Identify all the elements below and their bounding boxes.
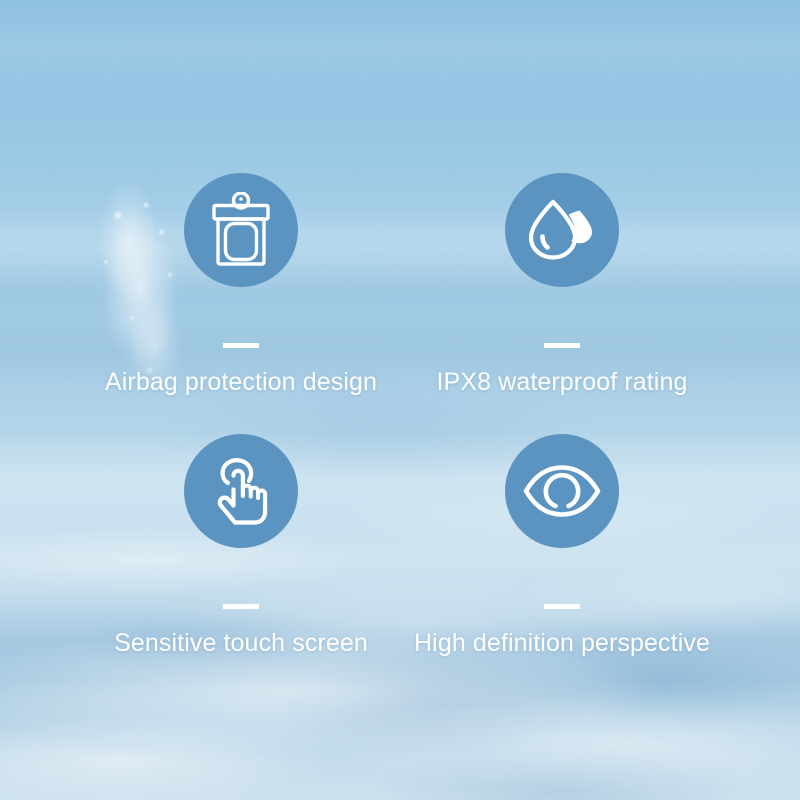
- touch-hand-icon: [208, 453, 274, 529]
- eye-icon: [522, 464, 602, 518]
- feature-icon-circle: [184, 434, 298, 548]
- feature-label: IPX8 waterproof rating: [382, 368, 742, 397]
- feature-label: Airbag protection design: [61, 368, 421, 397]
- feature-label: High definition perspective: [382, 629, 742, 658]
- feature-banner: Airbag protection design IPX8 waterproo: [0, 0, 800, 800]
- feature-icon-circle: [505, 434, 619, 548]
- feature-divider-dash: [223, 343, 259, 348]
- feature-label: Sensitive touch screen: [61, 629, 421, 658]
- feature-icon-circle: [184, 173, 298, 287]
- feature-divider-dash: [223, 604, 259, 609]
- water-drop-icon: [527, 196, 597, 264]
- feature-divider-dash: [544, 343, 580, 348]
- feature-divider-dash: [544, 604, 580, 609]
- waterproof-pouch-icon: [205, 192, 277, 268]
- feature-icon-circle: [505, 173, 619, 287]
- feature-grid: Airbag protection design IPX8 waterproo: [0, 0, 800, 800]
